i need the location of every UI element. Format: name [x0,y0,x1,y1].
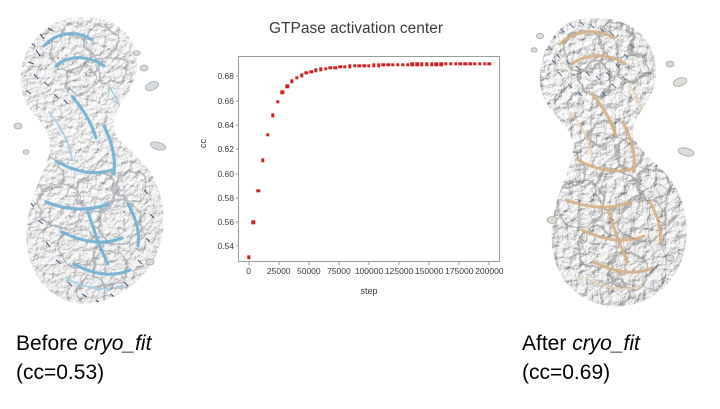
data-point [252,220,255,223]
data-point [444,62,447,65]
y-axis-tick-label: 0.58 [217,193,234,203]
x-axis-tick-mark [459,261,460,265]
y-axis-tick-label: 0.60 [217,169,234,179]
x-axis-tick-mark [399,261,400,265]
x-axis-tick-mark [278,261,279,265]
data-point [261,159,264,162]
y-axis-tick-label: 0.68 [217,71,234,81]
caption-before: Before cryo_fit (cc=0.53) [16,329,151,387]
data-point [285,84,288,87]
data-point [334,66,337,69]
x-axis-tick-label: 125000 [385,266,413,276]
data-point [257,189,260,192]
data-point [420,63,423,66]
data-point [372,64,375,67]
data-point [415,63,418,66]
x-axis-tick-mark [369,261,370,265]
y-axis-tick-mark [236,222,240,223]
data-point [314,69,317,72]
x-axis-tick-label: 25000 [267,266,291,276]
data-point [358,64,361,67]
y-axis-tick-label: 0.62 [217,144,234,154]
y-axis-tick-label: 0.56 [217,217,234,227]
data-point [247,256,250,259]
y-axis-tick-mark [236,125,240,126]
y-axis-tick-mark [236,76,240,77]
data-point [319,68,322,71]
data-point [488,62,491,65]
caption-after-line2: (cc=0.69) [522,358,640,387]
x-axis-label: step [238,286,500,296]
data-point [276,100,279,103]
data-point [305,71,308,74]
data-point [449,62,452,65]
caption-after-prefix: After [522,332,572,355]
x-axis-tick-label: 175000 [445,266,473,276]
caption-after-italic: cryo_fit [572,332,640,355]
caption-before-line2: (cc=0.53) [16,358,151,387]
data-point [464,62,467,65]
data-point [362,64,365,67]
data-point [387,63,390,66]
data-point [459,62,462,65]
x-axis-tick-label: 50000 [297,266,321,276]
data-point [290,80,293,83]
structure-panel-before [0,6,200,318]
caption-after: After cryo_fit (cc=0.69) [522,329,640,387]
data-point [343,65,346,68]
data-point [266,133,269,136]
x-axis-tick-mark [308,261,309,265]
data-point [271,114,274,117]
data-point [377,63,380,66]
y-axis-tick-mark [236,246,240,247]
x-axis-tick-label: 150000 [415,266,443,276]
chart-title: GTPase activation center [196,20,516,38]
scatter-series [239,57,499,261]
data-point [353,64,356,67]
y-axis-tick-label: 0.66 [217,96,234,106]
caption-before-prefix: Before [16,332,84,355]
data-point [295,76,298,79]
y-axis-tick-label: 0.64 [217,120,234,130]
y-axis-tick-mark [236,197,240,198]
x-axis-tick-mark [429,261,430,265]
data-point [454,62,457,65]
data-point [391,63,394,66]
x-axis-tick-mark [338,261,339,265]
data-point [338,65,341,68]
data-point [396,63,399,66]
data-point [435,62,438,65]
y-axis-tick-label: 0.54 [217,241,234,251]
y-axis-tick-mark [236,149,240,150]
data-point [406,63,409,66]
cryo-em-density-map-after-image [518,6,718,318]
data-point [329,66,332,69]
x-axis-tick-label: 200000 [475,266,503,276]
data-point [348,65,351,68]
x-axis-tick-mark [489,261,490,265]
data-point [425,63,428,66]
data-point [468,62,471,65]
data-point [401,63,404,66]
x-axis-tick-label: 0 [246,266,251,276]
data-point [324,67,327,70]
cryo-em-density-map-before-image [0,6,200,318]
x-axis-tick-mark [248,261,249,265]
data-point [440,62,443,65]
cc-vs-step-chart: GTPase activation center 0.540.560.580.6… [196,8,516,298]
data-point [473,62,476,65]
plot-area: 0.540.560.580.600.620.640.660.6802500050… [238,56,500,262]
x-axis-tick-label: 75000 [327,266,351,276]
y-axis-tick-mark [236,100,240,101]
y-axis-tick-mark [236,173,240,174]
y-axis-label: cc [198,139,208,148]
data-point [382,63,385,66]
data-point [367,64,370,67]
caption-after-line1: After cryo_fit [522,329,640,358]
data-point [483,62,486,65]
data-point [430,62,433,65]
x-axis-tick-label: 100000 [355,266,383,276]
data-point [411,63,414,66]
data-point [478,62,481,65]
data-point [281,91,284,94]
caption-before-italic: cryo_fit [84,332,152,355]
structure-panel-after [518,6,718,318]
caption-before-line1: Before cryo_fit [16,329,151,358]
data-point [310,70,313,73]
data-point [300,74,303,77]
